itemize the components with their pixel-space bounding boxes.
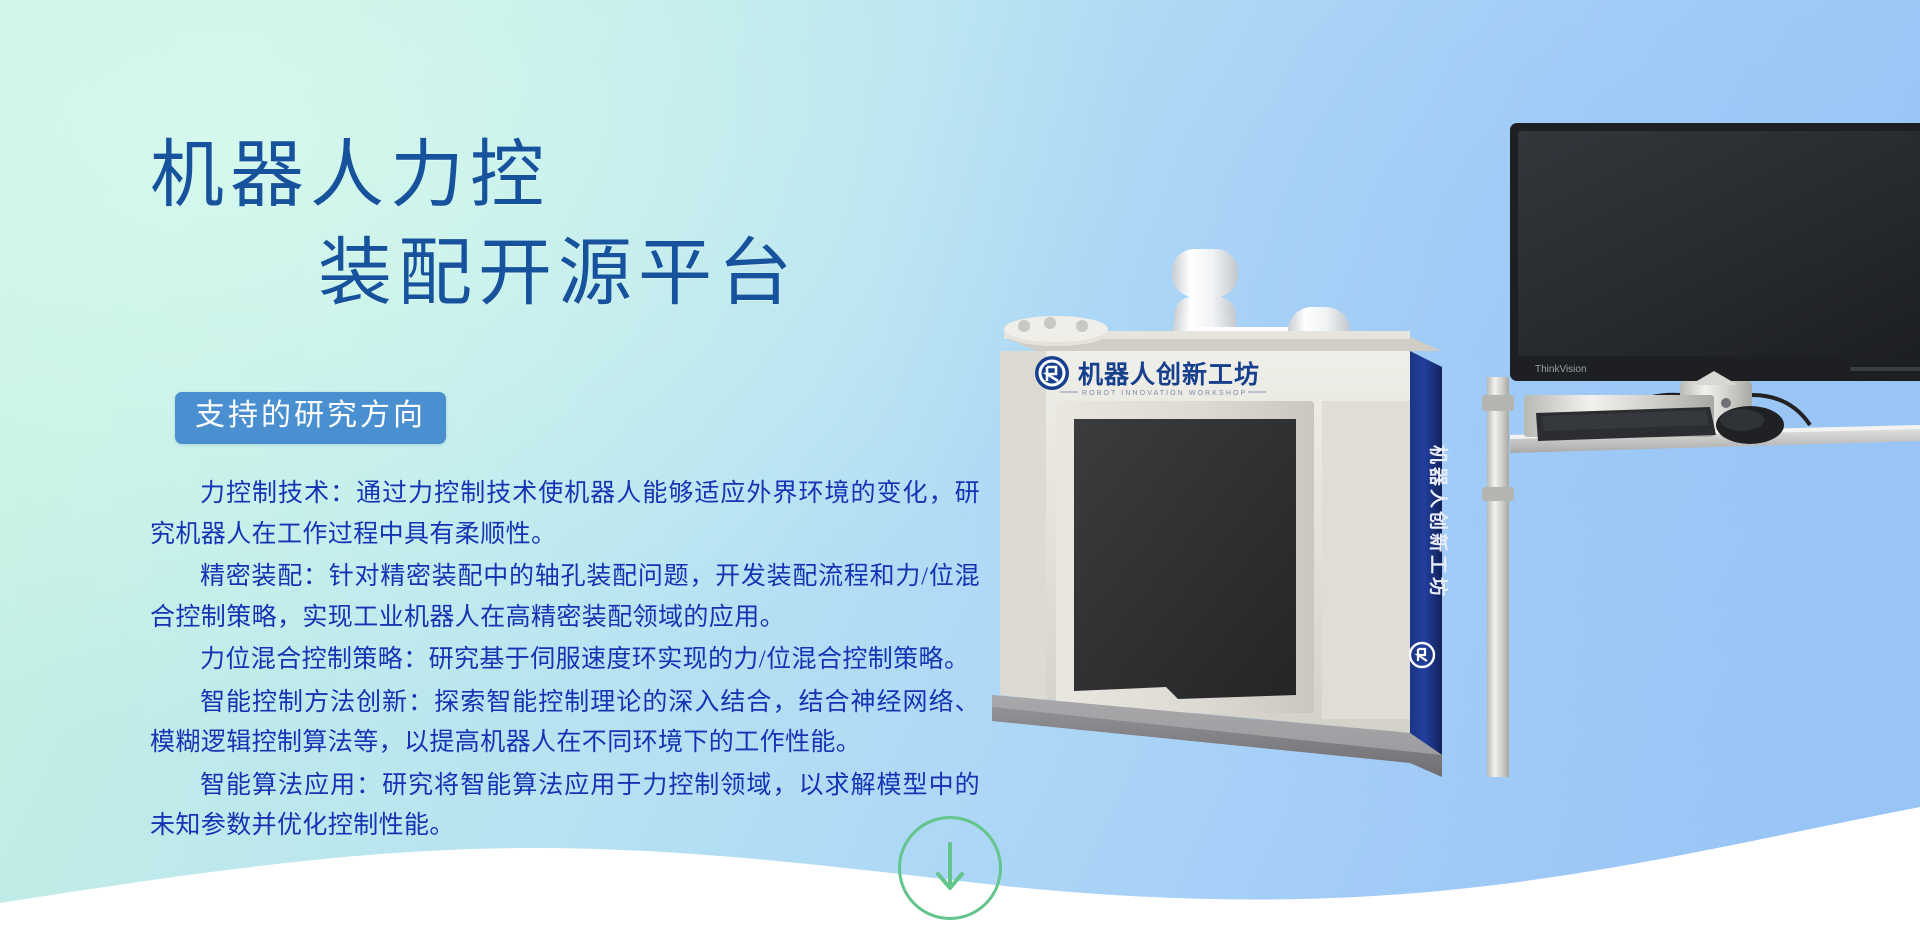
machine-front-logo-cn: 机器人创新工坊 bbox=[1078, 360, 1260, 389]
product-photo: ThinkVision bbox=[990, 95, 1920, 785]
deck-flange bbox=[1004, 316, 1108, 346]
viewing-window bbox=[1074, 419, 1296, 699]
scroll-down-button[interactable] bbox=[898, 816, 1002, 920]
research-point: 力位混合控制策略：研究基于伺服速度环实现的力/位混合控制策略。 bbox=[150, 640, 980, 681]
page-title-line-1: 机器人力控 bbox=[150, 128, 970, 226]
page-title-line-2: 装配开源平台 bbox=[318, 226, 970, 324]
monitor-screen bbox=[1518, 131, 1920, 356]
research-point: 精密装配：针对精密装配中的轴孔装配问题，开发装配流程和力/位混合控制策略，实现工… bbox=[150, 557, 980, 638]
machine-front-logo-en: ROBOT INNOVATION WORKSHOP bbox=[1082, 390, 1247, 397]
machine-side-logo-cn: 机器人创新工坊 bbox=[1427, 445, 1450, 599]
post-clamp bbox=[1482, 395, 1514, 411]
hero-banner: ThinkVision bbox=[0, 0, 1920, 937]
cabinet-right-panel bbox=[1322, 401, 1410, 719]
page-title: 机器人力控 装配开源平台 bbox=[150, 128, 970, 323]
research-directions-list: 力控制技术：通过力控制技术使机器人能够适应外界环境的变化，研究机器人在工作过程中… bbox=[150, 474, 980, 849]
mounting-post bbox=[1487, 377, 1509, 777]
monitor-osd-buttons bbox=[1850, 367, 1920, 371]
hero-copy: 机器人力控 装配开源平台 支持的研究方向 力控制技术：通过力控制技术使机器人能够… bbox=[0, 0, 1010, 937]
monitor-brand-label: ThinkVision bbox=[1535, 364, 1587, 375]
research-point: 智能算法应用：研究将智能算法应用于力控制领域，以求解模型中的未知参数并优化控制性… bbox=[150, 766, 980, 847]
research-point: 智能控制方法创新：探索智能控制理论的深入结合，结合神经网络、模糊逻辑控制算法等，… bbox=[150, 683, 980, 764]
research-point: 力控制技术：通过力控制技术使机器人能够适应外界环境的变化，研究机器人在工作过程中… bbox=[150, 474, 980, 555]
post-clamp-lower bbox=[1482, 487, 1514, 501]
section-badge: 支持的研究方向 bbox=[175, 392, 446, 444]
monitor: ThinkVision bbox=[1510, 123, 1920, 381]
workstation-illustration: ThinkVision bbox=[990, 95, 1920, 785]
arrow-down-icon bbox=[930, 838, 970, 898]
enclosure-cabinet: 机器人创新工坊 ROBOT INNOVATION WORKSHOP 机器人创新工… bbox=[992, 316, 1450, 777]
